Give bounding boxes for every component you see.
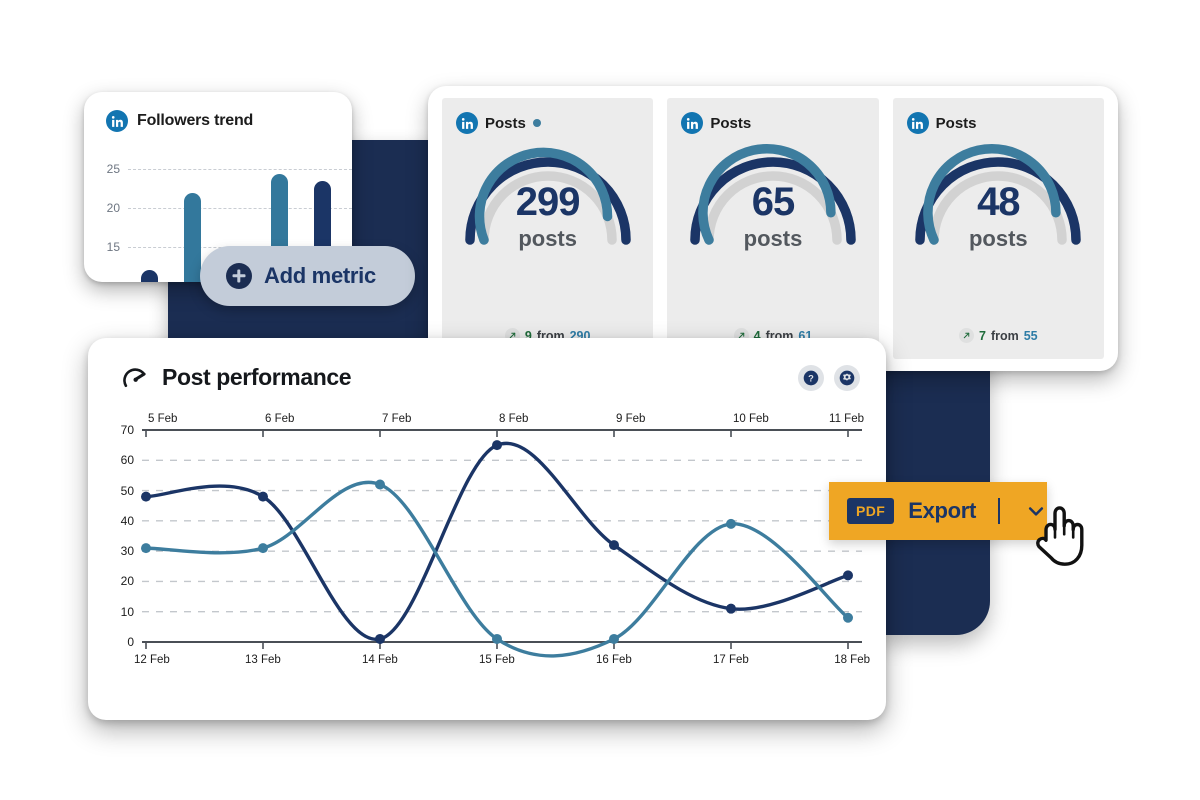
metric-tile[interactable]: Posts65posts4from61: [667, 98, 878, 359]
bar: [141, 270, 158, 282]
top-axis-tick-label: 6 Feb: [265, 413, 294, 425]
pdf-badge: PDF: [847, 498, 894, 524]
top-axis-tick-label: 5 Feb: [148, 413, 177, 425]
y-tick-label: 10: [106, 605, 134, 619]
bottom-axis-tick-label: 17 Feb: [713, 654, 749, 666]
add-metric-button[interactable]: Add metric: [200, 246, 415, 306]
trend-up-arrow-icon: [959, 328, 974, 343]
linkedin-icon: [106, 110, 128, 132]
top-axis-tick-label: 8 Feb: [499, 413, 528, 425]
metric-unit: posts: [903, 226, 1093, 252]
linkedin-icon: [456, 112, 478, 134]
speedometer-icon: [122, 365, 148, 391]
metric-gauge: 65posts: [678, 140, 868, 258]
y-tick-label: 30: [106, 544, 134, 558]
bar: [184, 193, 201, 282]
svg-text:?: ?: [808, 373, 814, 383]
export-label: Export: [908, 498, 976, 524]
bottom-axis-tick-label: 18 Feb: [834, 654, 870, 666]
followers-card-header: Followers trend: [84, 92, 352, 132]
metric-tile-header: Posts: [442, 98, 541, 134]
y-tick-label: 0: [106, 635, 134, 649]
bar-y-tick-label: 25: [94, 162, 120, 176]
post-performance-header: Post performance ?: [88, 338, 886, 391]
metric-tile-header: Posts: [893, 98, 977, 134]
post-performance-card: Post performance ?: [88, 338, 886, 720]
post-performance-line-chart: 0102030405060705 Feb6 Feb7 Feb8 Feb9 Feb…: [88, 406, 886, 706]
metric-value: 299: [453, 182, 643, 222]
bar-y-tick-label: 15: [94, 240, 120, 254]
metric-tiles: Posts299posts9from290Posts65posts4from61…: [428, 86, 1118, 371]
metric-delta: 7from55: [893, 328, 1104, 343]
bottom-axis-tick-label: 16 Feb: [596, 654, 632, 666]
metric-name: Posts: [710, 115, 751, 132]
metric-unit: posts: [678, 226, 868, 252]
metric-previous-value: 55: [1024, 329, 1038, 343]
linkedin-icon: [681, 112, 703, 134]
bottom-axis-tick-label: 15 Feb: [479, 654, 515, 666]
pointing-hand-cursor: [1028, 496, 1098, 578]
metric-value: 65: [678, 182, 868, 222]
metric-name: Posts: [936, 115, 977, 132]
bottom-axis-tick-label: 12 Feb: [134, 654, 170, 666]
metrics-card: Posts299posts9from290Posts65posts4from61…: [428, 86, 1118, 371]
top-axis-tick-label: 7 Feb: [382, 413, 411, 425]
linkedin-icon: [907, 112, 929, 134]
metric-status-dot: [533, 119, 541, 127]
metric-gauge: 48posts: [903, 140, 1093, 258]
plus-circle-icon: [226, 263, 252, 289]
post-performance-title: Post performance: [162, 364, 351, 391]
y-tick-label: 40: [106, 514, 134, 528]
metric-gauge: 299posts: [453, 140, 643, 258]
export-button[interactable]: PDF Export: [829, 482, 1047, 540]
y-tick-label: 60: [106, 453, 134, 467]
followers-card-title: Followers trend: [137, 112, 253, 130]
bottom-axis-tick-label: 13 Feb: [245, 654, 281, 666]
metric-tile-header: Posts: [667, 98, 751, 134]
metric-value: 48: [903, 182, 1093, 222]
y-tick-label: 20: [106, 574, 134, 588]
metric-from-label: from: [991, 329, 1019, 343]
metric-unit: posts: [453, 226, 643, 252]
post-performance-actions: ?: [798, 365, 860, 391]
top-axis-tick-label: 10 Feb: [733, 413, 769, 425]
bar-gridline: [128, 169, 352, 170]
screenshot-stage: Followers trend 152025 Add metric Posts2…: [0, 0, 1200, 800]
gear-icon[interactable]: [834, 365, 860, 391]
export-divider: [998, 498, 1000, 524]
bottom-axis-tick-label: 14 Feb: [362, 654, 398, 666]
metric-tile[interactable]: Posts299posts9from290: [442, 98, 653, 359]
add-metric-label: Add metric: [264, 263, 376, 289]
bar-y-tick-label: 20: [94, 201, 120, 215]
metric-name: Posts: [485, 115, 526, 132]
y-tick-label: 70: [106, 423, 134, 437]
y-tick-label: 50: [106, 484, 134, 498]
metric-delta-value: 7: [979, 329, 986, 343]
top-axis-tick-label: 11 Feb: [829, 413, 864, 425]
metric-tile[interactable]: Posts48posts7from55: [893, 98, 1104, 359]
top-axis-tick-label: 9 Feb: [616, 413, 645, 425]
question-mark-icon[interactable]: ?: [798, 365, 824, 391]
